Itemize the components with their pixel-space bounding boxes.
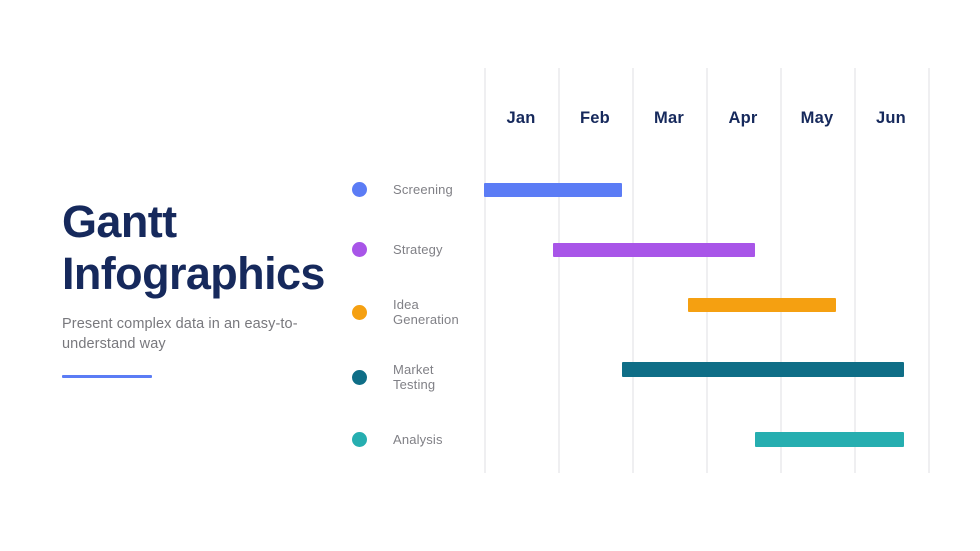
month-label-may: May: [780, 109, 854, 128]
legend-dot-icon: [352, 182, 367, 197]
gantt-chart: JanFebMarAprMayJun ScreeningStrategyIdea…: [0, 0, 980, 551]
legend-dot-icon: [352, 242, 367, 257]
month-label-apr: Apr: [706, 109, 780, 128]
legend-item-label: Idea Generation: [393, 297, 459, 327]
legend-item-label: Analysis: [393, 432, 443, 447]
month-label-jan: Jan: [484, 109, 558, 128]
gridline: [706, 68, 708, 473]
month-label-jun: Jun: [854, 109, 928, 128]
gridline: [632, 68, 634, 473]
gridline: [854, 68, 856, 473]
legend-item-analysis[interactable]: Analysis: [352, 432, 482, 447]
month-label-mar: Mar: [632, 109, 706, 128]
gridline: [780, 68, 782, 473]
legend-dot-icon: [352, 370, 367, 385]
gantt-bar-screening[interactable]: [484, 183, 622, 197]
gantt-bar-strategy[interactable]: [553, 243, 755, 257]
legend-item-label: Market Testing: [393, 362, 435, 392]
legend-dot-icon: [352, 305, 367, 320]
month-label-feb: Feb: [558, 109, 632, 128]
legend-item-screening[interactable]: Screening: [352, 182, 482, 197]
gantt-bar-idea-generation[interactable]: [688, 298, 836, 312]
gantt-bar-market-testing[interactable]: [622, 362, 905, 377]
legend-item-label: Screening: [393, 182, 453, 197]
gridline: [558, 68, 560, 473]
gantt-bar-analysis[interactable]: [755, 432, 904, 447]
gridline: [928, 68, 930, 473]
legend-item-strategy[interactable]: Strategy: [352, 242, 482, 257]
legend-item-label: Strategy: [393, 242, 443, 257]
legend-dot-icon: [352, 432, 367, 447]
legend-item-market-testing[interactable]: Market Testing: [352, 362, 482, 392]
legend-item-idea-generation[interactable]: Idea Generation: [352, 297, 482, 327]
gridline: [484, 68, 486, 473]
